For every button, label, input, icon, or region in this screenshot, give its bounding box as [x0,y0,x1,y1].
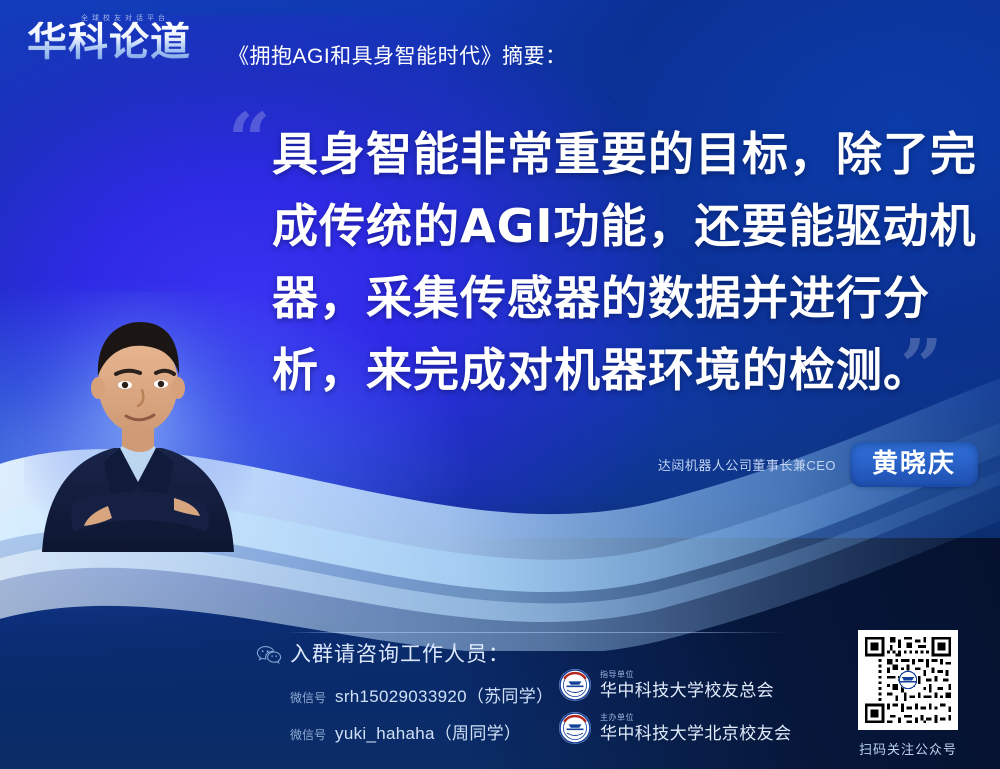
speaker-name-badge: 黄晓庆 [850,442,978,487]
contact-value[interactable]: srh15029033920（苏同学） [335,682,553,707]
organizer-row: 主办单位 华中科技大学北京校友会 [558,711,791,745]
organizer-kind: 主办单位 [600,714,791,722]
qr-block: 扫码关注公众号 [846,630,970,758]
organizer-row: 指导单位 华中科技大学校友总会 [558,668,791,702]
quote-open-mark: “ [228,104,271,178]
quote-line: 器，采集传感器的数据并进行分 [272,262,952,334]
contact-label: 微信号 [290,726,326,743]
university-emblem-icon [558,668,592,702]
speaker-role: 达闼机器人公司董事长兼CEO [658,455,836,474]
contact-row: 微信号 yuki_hahaha（周同学） [290,719,553,744]
organizer-texts: 主办单位 华中科技大学北京校友会 [600,714,791,742]
contact-title: 入群请咨询工作人员： [290,638,553,668]
organizer-name: 华中科技大学北京校友会 [600,725,791,742]
wechat-icon [256,645,282,665]
qr-code-icon[interactable] [858,630,958,730]
poster-canvas: 全球校友对话平台 华科论道 《拥抱AGI和具身智能时代》摘要： “ ” 具身智能… [0,0,1000,769]
contact-block: 入群请咨询工作人员： 微信号 srh15029033920（苏同学） 微信号 y… [290,638,553,756]
organizer-texts: 指导单位 华中科技大学校友总会 [600,671,774,699]
brand-logo-text: 华科论道 [27,22,223,62]
brand-logo[interactable]: 全球校友对话平台 华科论道 [27,12,223,74]
contact-row: 微信号 srh15029033920（苏同学） [290,682,553,707]
organizer-name: 华中科技大学校友总会 [600,682,774,699]
footer-divider [285,632,785,633]
qr-caption: 扫码关注公众号 [846,739,970,758]
quote-line: 成传统的AGI功能，还要能驱动机 [272,190,952,262]
university-emblem-icon [558,711,592,745]
contact-label: 微信号 [290,689,326,706]
contact-value[interactable]: yuki_hahaha（周同学） [335,719,521,744]
organizer-kind: 指导单位 [600,671,774,679]
speaker-portrait [24,292,252,552]
quote-line: 具身智能非常重要的目标，除了完 [272,118,952,190]
quote-line: 析，来完成对机器环境的检测。 [272,334,952,406]
quote-text: 具身智能非常重要的目标，除了完 成传统的AGI功能，还要能驱动机 器，采集传感器… [272,118,952,406]
page-title: 《拥抱AGI和具身智能时代》摘要： [228,40,567,70]
speaker-attribution: 达闼机器人公司董事长兼CEO 黄晓庆 [658,442,978,487]
poster-header: 全球校友对话平台 华科论道 《拥抱AGI和具身智能时代》摘要： [0,0,1000,96]
organizer-block: 指导单位 华中科技大学校友总会 主办单位 华中科技大学北京校友会 [558,668,791,754]
